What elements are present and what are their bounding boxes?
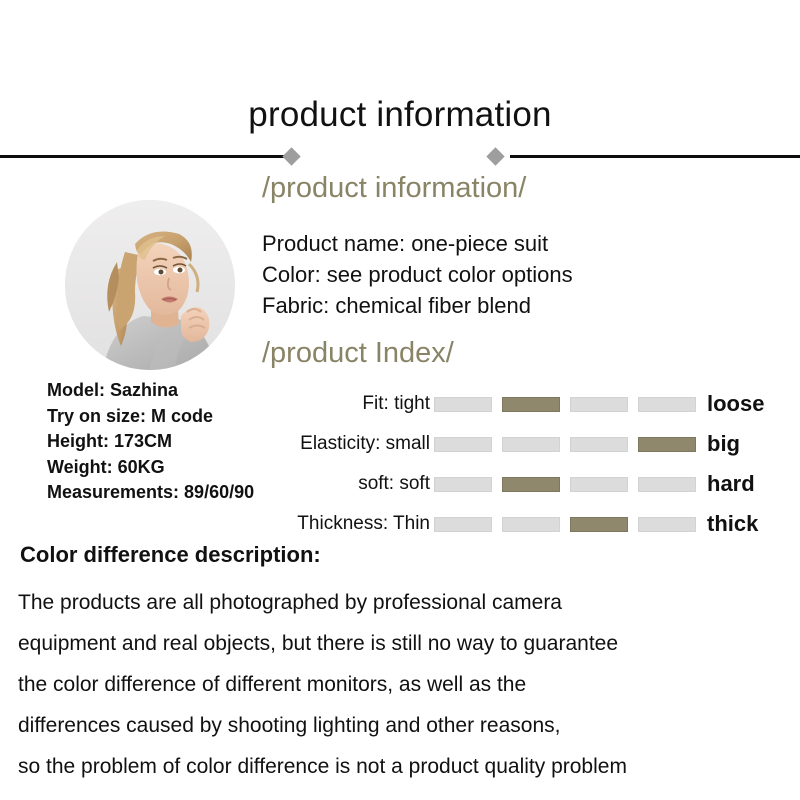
model-spec-line: Weight: 60KG	[47, 455, 254, 481]
model-spec-line: Try on size: M code	[47, 404, 254, 430]
diamond-icon-left	[282, 147, 300, 165]
color-difference-title: Color difference description:	[20, 542, 321, 568]
index-bars-thickness	[434, 517, 696, 532]
index-bar-segment	[570, 397, 628, 412]
index-bar-segment	[434, 397, 492, 412]
index-row-fit: Fit: tight loose	[282, 384, 782, 424]
divider-rule-left	[0, 155, 290, 158]
product-info-list: Product name: one-piece suit Color: see …	[262, 228, 573, 321]
index-row-elasticity: Elasticity: small big	[282, 424, 782, 464]
index-bar-segment	[570, 437, 628, 452]
page-title: product information	[0, 96, 800, 135]
color-difference-line: equipment and real objects, but there is…	[18, 623, 788, 664]
index-right-label: big	[707, 431, 740, 457]
page-title-block: product information	[0, 96, 800, 135]
model-photo	[65, 200, 235, 370]
index-left-label: soft: soft	[282, 473, 434, 495]
product-information-page: product information	[0, 0, 800, 800]
index-bar-segment	[502, 477, 560, 492]
color-difference-line: The products are all photographed by pro…	[18, 582, 788, 623]
index-right-label: hard	[707, 471, 755, 497]
index-left-label: Fit: tight	[282, 393, 434, 415]
product-info-line: Fabric: chemical fiber blend	[262, 290, 573, 321]
index-bar-segment	[434, 477, 492, 492]
index-bar-segment	[638, 517, 696, 532]
model-spec-line: Measurements: 89/60/90	[47, 480, 254, 506]
product-info-line: Product name: one-piece suit	[262, 228, 573, 259]
model-spec-line: Height: 173CM	[47, 429, 254, 455]
section-heading-product-information: /product information/	[262, 172, 526, 205]
diamond-icon-right	[486, 147, 504, 165]
index-bar-segment	[638, 477, 696, 492]
index-right-label: loose	[707, 391, 764, 417]
index-bar-segment	[502, 397, 560, 412]
index-row-thickness: Thickness: Thin thick	[282, 504, 782, 544]
model-spec-line: Model: Sazhina	[47, 378, 254, 404]
product-index-table: Fit: tight loose Elasticity: small big s…	[282, 384, 782, 544]
color-difference-body: The products are all photographed by pro…	[18, 582, 788, 787]
section-heading-product-index: /product Index/	[262, 337, 454, 370]
index-bar-segment	[638, 397, 696, 412]
index-right-label: thick	[707, 511, 758, 537]
index-bars-elasticity	[434, 437, 696, 452]
product-info-line: Color: see product color options	[262, 259, 573, 290]
index-bar-segment	[638, 437, 696, 452]
color-difference-line: the color difference of different monito…	[18, 664, 788, 705]
title-divider	[0, 146, 800, 166]
color-difference-line: so the problem of color difference is no…	[18, 746, 788, 787]
index-left-label: Elasticity: small	[282, 433, 434, 455]
index-bars-soft	[434, 477, 696, 492]
index-bar-segment	[434, 517, 492, 532]
index-bar-segment	[434, 437, 492, 452]
index-bar-segment	[502, 517, 560, 532]
divider-rule-right	[510, 155, 800, 158]
index-row-soft: soft: soft hard	[282, 464, 782, 504]
model-portrait-illustration	[65, 200, 235, 370]
index-bar-segment	[570, 477, 628, 492]
model-specs-list: Model: Sazhina Try on size: M code Heigh…	[47, 378, 254, 506]
index-left-label: Thickness: Thin	[282, 513, 434, 535]
color-difference-line: differences caused by shooting lighting …	[18, 705, 788, 746]
index-bar-segment	[570, 517, 628, 532]
index-bar-segment	[502, 437, 560, 452]
index-bars-fit	[434, 397, 696, 412]
